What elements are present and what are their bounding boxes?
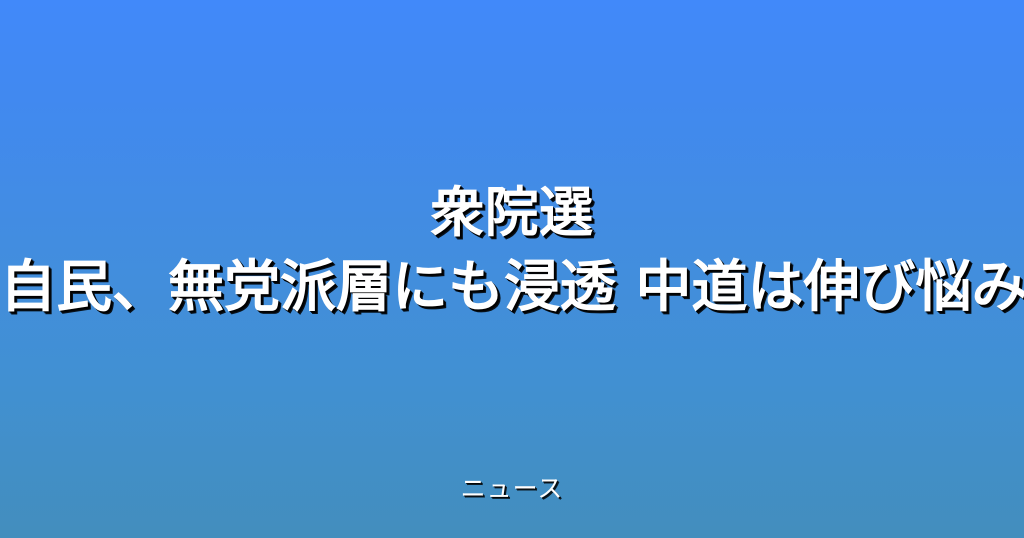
news-card: 衆院選 自民、無党派層にも浸透 中道は伸び悩みの話題 ニュース	[0, 0, 1024, 538]
headline-line-secondary: 自民、無党派層にも浸透 中道は伸び悩みの話題	[0, 260, 1024, 316]
headline-block: 衆院選 自民、無党派層にも浸透 中道は伸び悩みの話題	[0, 186, 1024, 316]
headline-line-primary: 衆院選	[0, 186, 1024, 260]
category-caption: ニュース	[0, 469, 1024, 505]
